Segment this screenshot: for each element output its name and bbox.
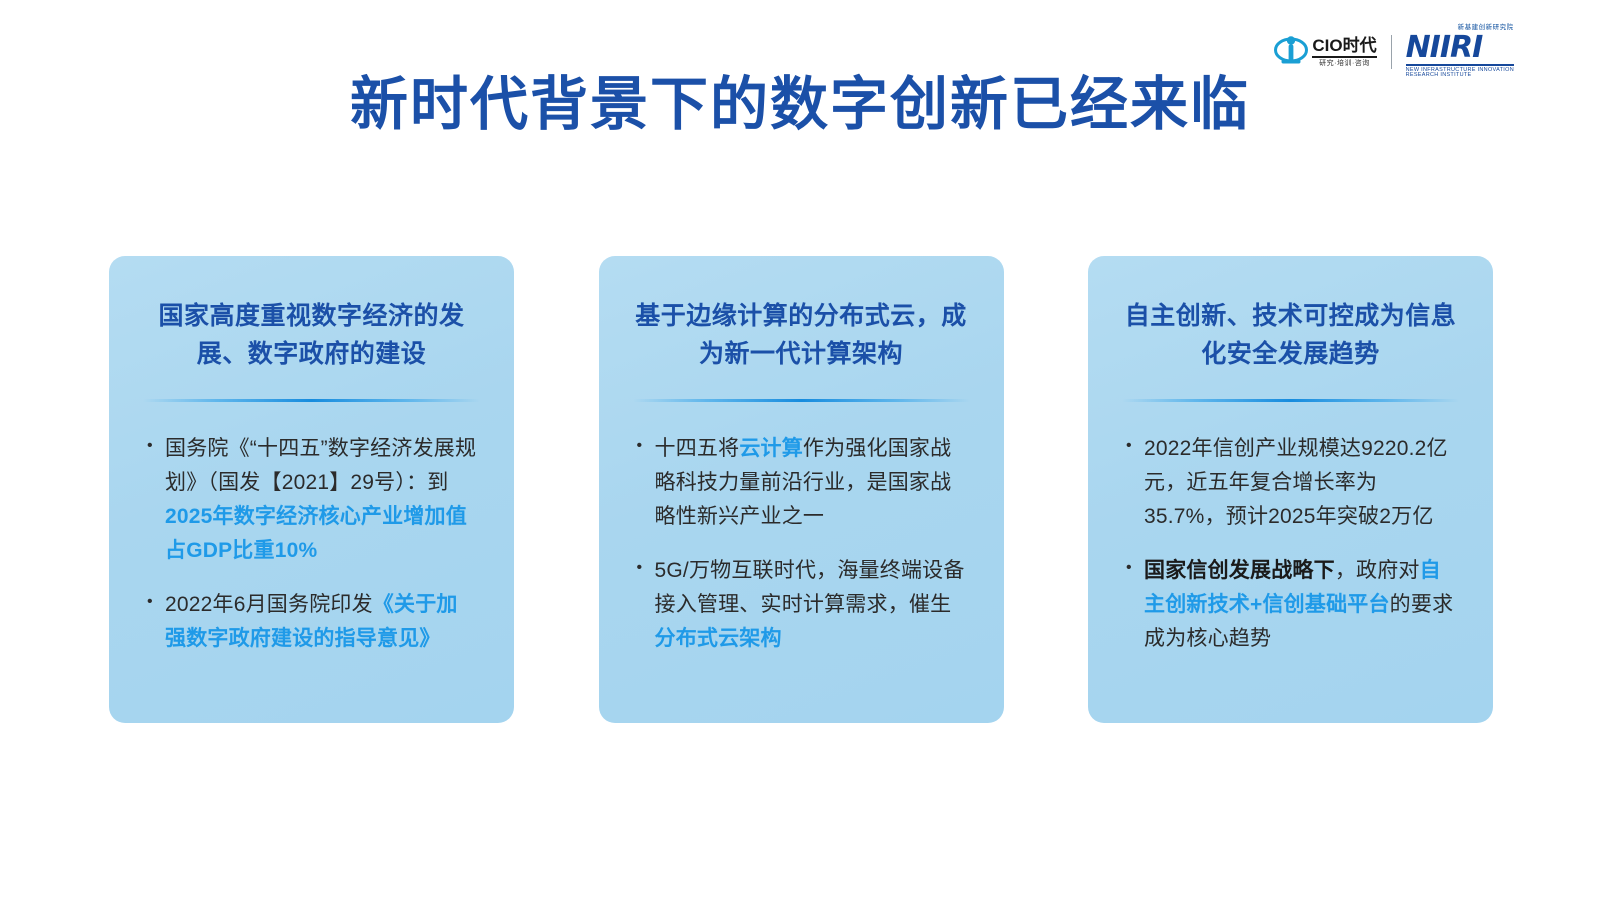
bullet-text: 国家信创发展战略下，政府对自主创新技术+信创基础平台的要求成为核心趋势 (1144, 554, 1457, 656)
info-card-divider (143, 399, 480, 402)
slide-root: CIO时代 研究·培训·咨询 新基建创新研究院 NIIRI NEW INFRAS… (0, 0, 1600, 900)
bullet-text-segment: 2022年6月国务院印发 (165, 593, 373, 616)
bullet-text: 2022年信创产业规模达9220.2亿元，近五年复合增长率为35.7%，预计20… (1144, 432, 1457, 534)
bullet-item: •2022年信创产业规模达9220.2亿元，近五年复合增长率为35.7%，预计2… (1126, 432, 1457, 534)
cio-logo-sub: 研究·培训·咨询 (1319, 60, 1370, 67)
bullet-text-segment: 十四五将 (655, 437, 740, 460)
bullet-text-segment: 5G/万物互联时代，海量终端设备接入管理、实时计算需求，催生 (655, 559, 965, 616)
niiri-logo-bar (1406, 64, 1514, 66)
logo-bar: CIO时代 研究·培训·咨询 新基建创新研究院 NIIRI NEW INFRAS… (1274, 30, 1514, 74)
niiri-logo-wordmark: NIIRI (1406, 33, 1483, 63)
person-figure-icon (1274, 33, 1308, 72)
bullet-marker-icon: • (637, 554, 655, 581)
info-card-divider (633, 399, 970, 402)
info-card: 国家高度重视数字经济的发展、数字政府的建设•国务院《“十四五”数字经济发展规划》… (109, 256, 514, 723)
info-card-body: •国务院《“十四五”数字经济发展规划》（国发【2021】29号）：到2025年数… (139, 432, 484, 656)
bullet-marker-icon: • (1126, 554, 1144, 581)
cio-logo-main: CIO时代 (1312, 37, 1376, 54)
info-card-title: 国家高度重视数字经济的发展、数字政府的建设 (139, 298, 484, 373)
bullet-text-segment: 云计算 (739, 437, 803, 460)
bullet-text: 2022年6月国务院印发《关于加强数字政府建设的指导意见》 (165, 588, 478, 656)
bullet-text-segment: 国务院《“十四五”数字经济发展规划》（国发【2021】29号）：到 (165, 437, 476, 494)
page-title: 新时代背景下的数字创新已经来临 (0, 72, 1600, 139)
bullet-item: •5G/万物互联时代，海量终端设备接入管理、实时计算需求，催生分布式云架构 (637, 554, 968, 656)
cio-logo-text: CIO时代 研究·培训·咨询 (1312, 37, 1376, 67)
bullet-text-segment: 分布式云架构 (655, 627, 782, 650)
cards-container: 国家高度重视数字经济的发展、数字政府的建设•国务院《“十四五”数字经济发展规划》… (109, 256, 1493, 723)
bullet-item: •十四五将云计算作为强化国家战略科技力量前沿行业，是国家战略性新兴产业之一 (637, 432, 968, 534)
logo-separator (1391, 35, 1392, 69)
niiri-logo: 新基建创新研究院 NIIRI NEW INFRASTRUCTURE INNOVA… (1406, 25, 1514, 79)
info-card-title: 自主创新、技术可控成为信息化安全发展趋势 (1118, 298, 1463, 373)
cio-logo-rule (1312, 56, 1376, 58)
bullet-item: •2022年6月国务院印发《关于加强数字政府建设的指导意见》 (147, 588, 478, 656)
bullet-text-segment: 国家信创发展战略下 (1144, 559, 1335, 582)
info-card-divider (1122, 399, 1459, 402)
bullet-marker-icon: • (147, 588, 165, 615)
bullet-text: 国务院《“十四五”数字经济发展规划》（国发【2021】29号）：到2025年数字… (165, 432, 478, 568)
cio-logo: CIO时代 研究·培训·咨询 (1274, 33, 1376, 72)
bullet-marker-icon: • (1126, 432, 1144, 459)
bullet-item: •国务院《“十四五”数字经济发展规划》（国发【2021】29号）：到2025年数… (147, 432, 478, 568)
bullet-text: 5G/万物互联时代，海量终端设备接入管理、实时计算需求，催生分布式云架构 (655, 554, 968, 656)
bullet-text-segment: 2022年信创产业规模达9220.2亿元，近五年复合增长率为35.7%，预计20… (1144, 437, 1448, 528)
bullet-text-segment: 2025年数字经济核心产业增加值占GDP比重10% (165, 505, 467, 562)
bullet-text: 十四五将云计算作为强化国家战略科技力量前沿行业，是国家战略性新兴产业之一 (655, 432, 968, 534)
bullet-marker-icon: • (637, 432, 655, 459)
info-card-title: 基于边缘计算的分布式云，成为新一代计算架构 (629, 298, 974, 373)
bullet-marker-icon: • (147, 432, 165, 459)
bullet-text-segment: ，政府对 (1335, 559, 1420, 582)
info-card-body: •十四五将云计算作为强化国家战略科技力量前沿行业，是国家战略性新兴产业之一•5G… (629, 432, 974, 656)
info-card: 自主创新、技术可控成为信息化安全发展趋势•2022年信创产业规模达9220.2亿… (1088, 256, 1493, 723)
info-card: 基于边缘计算的分布式云，成为新一代计算架构•十四五将云计算作为强化国家战略科技力… (599, 256, 1004, 723)
info-card-body: •2022年信创产业规模达9220.2亿元，近五年复合增长率为35.7%，预计2… (1118, 432, 1463, 656)
bullet-item: •国家信创发展战略下，政府对自主创新技术+信创基础平台的要求成为核心趋势 (1126, 554, 1457, 656)
